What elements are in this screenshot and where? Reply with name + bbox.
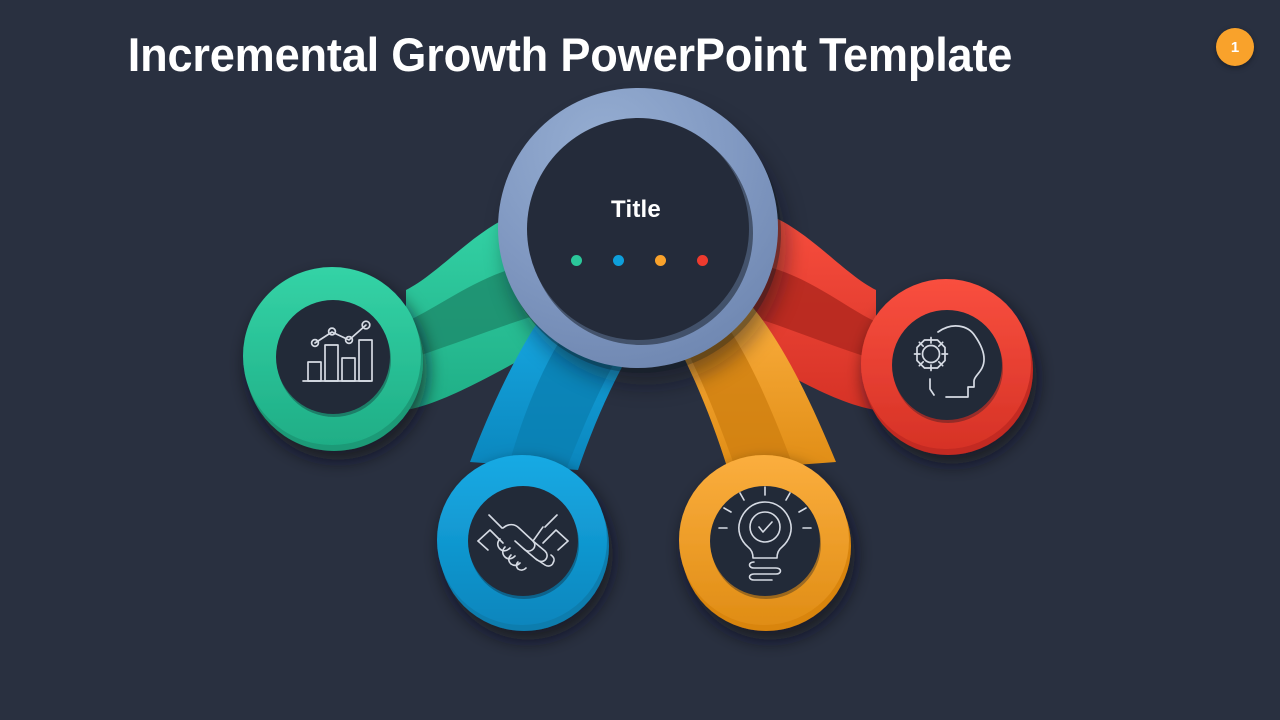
slide-canvas: Incremental Growth PowerPoint Template 1	[0, 0, 1280, 720]
legend-dot-red	[697, 255, 708, 266]
node-innovation[interactable]	[861, 279, 1033, 455]
legend-dot-green	[571, 255, 582, 266]
incremental-growth-diagram	[0, 0, 1280, 720]
node-partnership[interactable]	[437, 455, 609, 631]
node-idea[interactable]	[679, 455, 851, 631]
legend-dot-blue	[613, 255, 624, 266]
center-hub[interactable]	[498, 88, 781, 373]
legend-dot-orange	[655, 255, 666, 266]
node-growth-chart[interactable]	[243, 267, 423, 451]
